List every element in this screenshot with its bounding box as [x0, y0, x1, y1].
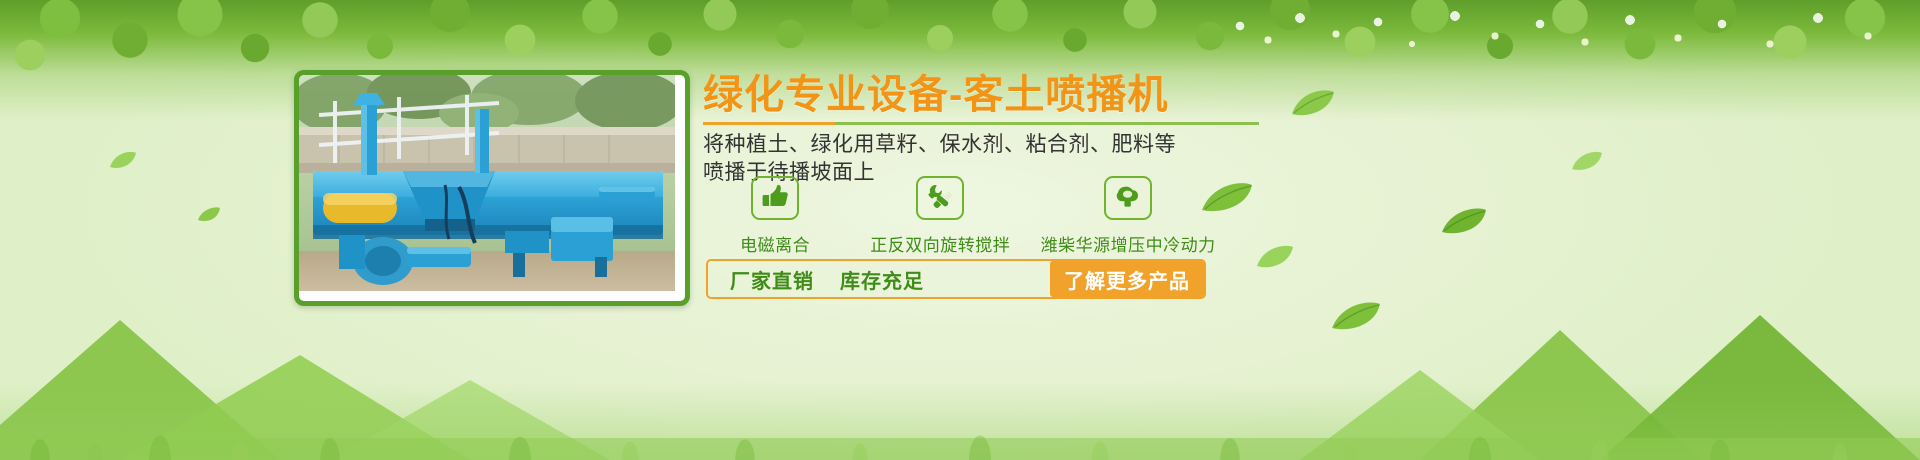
feature-label: 电磁离合 [740, 231, 810, 256]
grass-decoration [0, 382, 1920, 460]
cta-tag-factory-direct: 厂家直销 [730, 265, 814, 294]
feature-icon-box [1104, 176, 1152, 220]
banner-subtitle-line1: 将种植土、绿化用草籽、保水剂、粘合剂、肥料等 [703, 131, 1263, 159]
engine-icon [1115, 184, 1141, 213]
product-photo-frame [294, 70, 690, 306]
banner-title: 绿化专业设备-客土喷播机 [703, 72, 1263, 118]
tools-icon [927, 183, 953, 214]
cta-tags: 厂家直销 库存充足 [708, 265, 924, 294]
cta-tag-in-stock: 库存充足 [840, 265, 924, 294]
feature-icon-box [751, 176, 799, 220]
feature-icon-box [916, 176, 964, 220]
product-photo [299, 75, 685, 301]
cta-bar: 厂家直销 库存充足 了解更多产品 [706, 259, 1206, 299]
learn-more-button[interactable]: 了解更多产品 [1050, 261, 1204, 297]
thumbs-up-icon [762, 184, 788, 213]
feature-list: 电磁离合 [703, 176, 1223, 256]
feature-label: 正反双向旋转搅拌 [870, 231, 1010, 256]
feature-label: 潍柴华源增压中冷动力 [1041, 231, 1216, 256]
feature-item-2: 正反双向旋转搅拌 [847, 176, 1033, 256]
feature-item-1: 电磁离合 [703, 176, 847, 256]
feature-item-3: 潍柴华源增压中冷动力 [1033, 176, 1223, 256]
promo-banner: 绿化专业设备-客土喷播机 将种植土、绿化用草籽、保水剂、粘合剂、肥料等 喷播于待… [0, 0, 1920, 460]
banner-text-block: 绿化专业设备-客土喷播机 将种植土、绿化用草籽、保水剂、粘合剂、肥料等 喷播于待… [703, 72, 1263, 187]
title-divider [703, 122, 1259, 125]
